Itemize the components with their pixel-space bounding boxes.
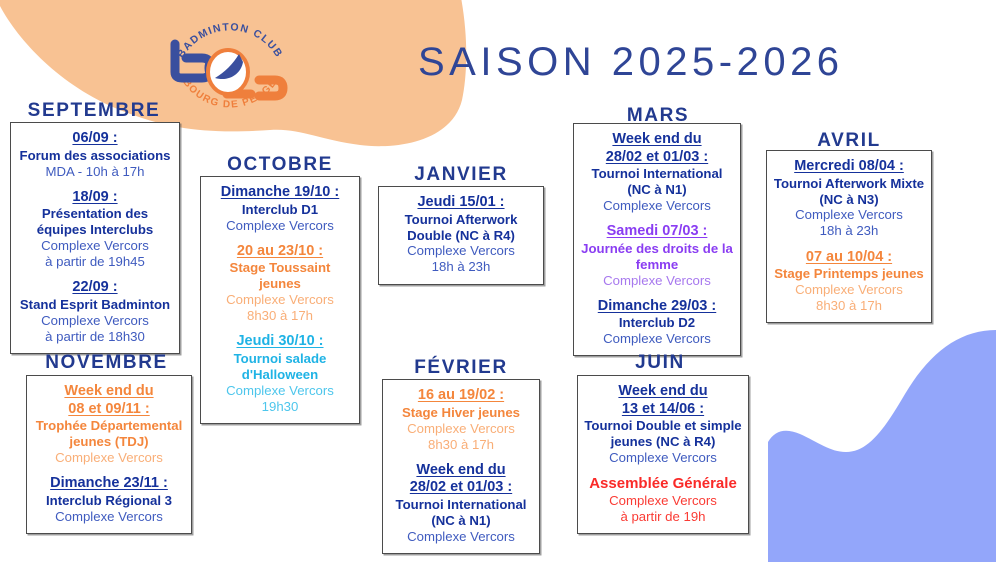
event-detail: Complexe Vercors — [207, 292, 353, 308]
event-title: Stage Toussaint jeunes — [207, 260, 353, 292]
event-item: Week end du28/02 et 01/03 :Tournoi Inter… — [389, 462, 533, 545]
event-item: Dimanche 19/10 :Interclub D1Complexe Ver… — [207, 184, 353, 234]
event-item: 22/09 :Stand Esprit BadmintonComplexe Ve… — [17, 279, 173, 345]
event-detail: Complexe Vercors — [580, 273, 734, 289]
month-box-octobre: Dimanche 19/10 :Interclub D1Complexe Ver… — [200, 176, 360, 424]
event-item: 20 au 23/10 :Stage Toussaint jeunesCompl… — [207, 243, 353, 325]
event-date: 07 au 10/04 : — [773, 249, 925, 267]
season-calendar-poster: (function(){ // colour the blobs from #p… — [0, 0, 996, 562]
event-detail: Complexe Vercors — [385, 243, 537, 259]
event-detail: Complexe Vercors — [580, 198, 734, 214]
event-detail: à partir de 19h — [584, 509, 742, 525]
club-logo: BADMINTON CLUB BOURG DE PÉAGE — [155, 0, 305, 138]
event-date: Week end du28/02 et 01/03 : — [389, 462, 533, 497]
logo-shuttlecock-icon — [208, 50, 248, 94]
event-title: Stage Hiver jeunes — [389, 405, 533, 421]
event-detail: Complexe Vercors — [207, 383, 353, 399]
month-heading-octobre: OCTOBRE — [200, 154, 360, 176]
event-date: Week end du28/02 et 01/03 : — [580, 131, 734, 166]
event-detail: Complexe Vercors — [207, 218, 353, 234]
event-title: Journée des droits de lafemme — [580, 241, 734, 273]
month-heading-septembre: SEPTEMBRE — [14, 100, 174, 122]
month-heading-juin: JUIN — [577, 352, 743, 374]
event-title: Présentation deséquipes Interclubs — [17, 206, 173, 238]
event-title: Interclub Régional 3 — [33, 493, 185, 509]
event-date: 16 au 19/02 : — [389, 387, 533, 405]
event-date: Samedi 07/03 : — [580, 223, 734, 241]
event-title: Stage Printemps jeunes — [773, 266, 925, 282]
event-title: Interclub D1 — [207, 202, 353, 218]
event-detail: MDA - 10h à 17h — [17, 164, 173, 180]
event-detail: Complexe Vercors — [389, 421, 533, 437]
event-title: Tournoi AfterworkDouble (NC à R4) — [385, 212, 537, 244]
event-detail: à partir de 18h30 — [17, 329, 173, 345]
event-title: Tournoi International(NC à N1) — [389, 497, 533, 529]
event-title: Tournoi Afterwork Mixte(NC à N3) — [773, 176, 925, 208]
event-title: Stand Esprit Badminton — [17, 297, 173, 313]
event-item: Jeudi 30/10 :Tournoi saladed'HalloweenCo… — [207, 333, 353, 415]
event-detail: 18h à 23h — [385, 259, 537, 275]
event-item: Samedi 07/03 :Journée des droits de lafe… — [580, 223, 734, 288]
month-box-janvier: Jeudi 15/01 :Tournoi AfterworkDouble (NC… — [378, 186, 544, 285]
event-date: Dimanche 29/03 : — [580, 298, 734, 316]
event-item: Jeudi 15/01 :Tournoi AfterworkDouble (NC… — [385, 194, 537, 276]
month-box-septembre: 06/09 :Forum des associationsMDA - 10h à… — [10, 122, 180, 354]
event-detail: 8h30 à 17h — [773, 298, 925, 314]
month-box-novembre: Week end du08 et 09/11 :Trophée Départem… — [26, 375, 192, 534]
event-date: Dimanche 19/10 : — [207, 184, 353, 202]
page-title: SAISON 2025-2026 — [418, 40, 844, 85]
event-title: Tournoi International(NC à N1) — [580, 166, 734, 198]
event-date: Week end du08 et 09/11 : — [33, 383, 185, 418]
event-item: Dimanche 29/03 :Interclub D2Complexe Ver… — [580, 298, 734, 348]
event-item: Dimanche 23/11 :Interclub Régional 3Comp… — [33, 475, 185, 525]
event-title: Interclub D2 — [580, 315, 734, 331]
event-item: Week end du13 et 14/06 :Tournoi Double e… — [584, 383, 742, 466]
month-heading-fevrier: FÉVRIER — [378, 357, 544, 379]
event-date: Dimanche 23/11 : — [33, 475, 185, 493]
event-item: 16 au 19/02 :Stage Hiver jeunesComplexe … — [389, 387, 533, 453]
event-detail: Complexe Vercors — [17, 313, 173, 329]
event-item: Mercredi 08/04 :Tournoi Afterwork Mixte(… — [773, 158, 925, 240]
event-item: Week end du08 et 09/11 :Trophée Départem… — [33, 383, 185, 466]
event-item: 18/09 :Présentation deséquipes Interclub… — [17, 189, 173, 271]
event-detail: Complexe Vercors — [584, 450, 742, 466]
event-item: Week end du28/02 et 01/03 :Tournoi Inter… — [580, 131, 734, 214]
event-date: 20 au 23/10 : — [207, 243, 353, 261]
event-detail: Complexe Vercors — [773, 207, 925, 223]
event-date: Mercredi 08/04 : — [773, 158, 925, 176]
event-date: Jeudi 15/01 : — [385, 194, 537, 212]
event-item: 06/09 :Forum des associationsMDA - 10h à… — [17, 130, 173, 180]
event-title: Trophée Départementaljeunes (TDJ) — [33, 418, 185, 450]
month-box-avril: Mercredi 08/04 :Tournoi Afterwork Mixte(… — [766, 150, 932, 323]
event-detail: 18h à 23h — [773, 223, 925, 239]
event-detail: Complexe Vercors — [773, 282, 925, 298]
event-date: 18/09 : — [17, 189, 173, 207]
event-title: Forum des associations — [17, 148, 173, 164]
event-detail: 8h30 à 17h — [389, 437, 533, 453]
event-detail: 19h30 — [207, 399, 353, 415]
month-box-mars: Week end du28/02 et 01/03 :Tournoi Inter… — [573, 123, 741, 356]
event-detail: Complexe Vercors — [33, 450, 185, 466]
event-title: Tournoi Double et simplejeunes (NC à R4) — [584, 418, 742, 450]
event-detail: Complexe Vercors — [33, 509, 185, 525]
month-heading-novembre: NOVEMBRE — [24, 352, 189, 374]
event-detail: à partir de 19h45 — [17, 254, 173, 270]
blue-blob-shape — [768, 330, 996, 562]
event-date: 22/09 : — [17, 279, 173, 297]
event-date: Jeudi 30/10 : — [207, 333, 353, 351]
event-item: Assemblée GénéraleComplexe Vercorsà part… — [584, 475, 742, 525]
month-box-fevrier: 16 au 19/02 :Stage Hiver jeunesComplexe … — [382, 379, 540, 554]
event-detail: Complexe Vercors — [584, 493, 742, 509]
event-date: Week end du13 et 14/06 : — [584, 383, 742, 418]
month-box-juin: Week end du13 et 14/06 :Tournoi Double e… — [577, 375, 749, 534]
event-date: 06/09 : — [17, 130, 173, 148]
event-detail: 8h30 à 17h — [207, 308, 353, 324]
event-title: Assemblée Générale — [584, 475, 742, 493]
event-item: 07 au 10/04 :Stage Printemps jeunesCompl… — [773, 249, 925, 315]
event-detail: Complexe Vercors — [580, 331, 734, 347]
event-detail: Complexe Vercors — [389, 529, 533, 545]
month-heading-avril: AVRIL — [766, 130, 932, 152]
event-detail: Complexe Vercors — [17, 238, 173, 254]
event-title: Tournoi saladed'Halloween — [207, 351, 353, 383]
month-heading-janvier: JANVIER — [378, 164, 544, 186]
